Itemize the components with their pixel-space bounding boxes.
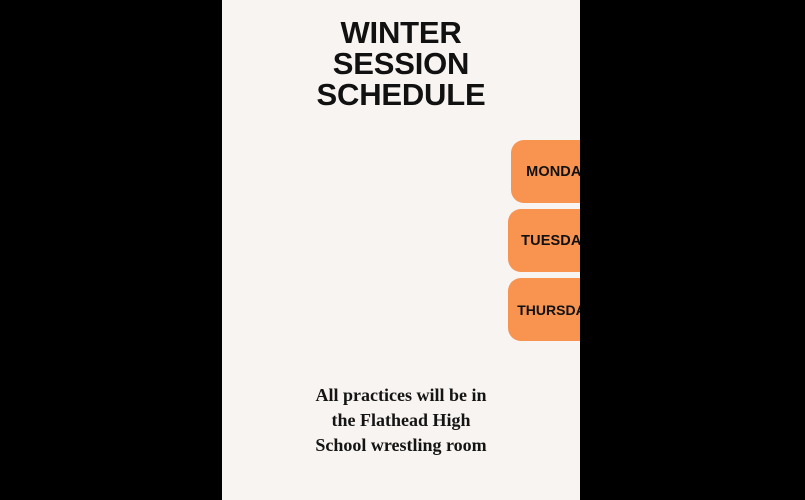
location-note-line-2: the Flathead High: [246, 408, 556, 433]
schedule-day-card-monday: MONDAY: [511, 140, 580, 203]
page-title-line-3: SCHEDULE: [222, 79, 580, 110]
location-note-line-1: All practices will be in: [246, 383, 556, 408]
schedule-row: THURSDAY 6-7:30 pm: [508, 278, 580, 341]
winter-session-poster: WINTER SESSION SCHEDULE MONDAY 6-7:30 pm…: [222, 0, 580, 500]
schedule-day-label: MONDAY: [526, 164, 580, 180]
page-title-line-2: SESSION: [222, 48, 580, 79]
schedule-row: MONDAY 6-7:30 pm: [511, 140, 580, 203]
location-note-line-3: School wrestling room: [246, 433, 556, 458]
schedule-day-label: THURSDAY: [517, 302, 580, 318]
poster-stage: WINTER SESSION SCHEDULE MONDAY 6-7:30 pm…: [0, 0, 805, 500]
letterbox-bar-right: [580, 0, 805, 500]
letterbox-bar-left: [0, 0, 222, 500]
schedule-row: TUESDAY 6-7:30 pm: [508, 209, 580, 272]
location-note: All practices will be in the Flathead Hi…: [246, 383, 556, 458]
page-title: WINTER SESSION SCHEDULE: [222, 17, 580, 110]
schedule-day-card-thursday: THURSDAY: [508, 278, 580, 341]
page-title-line-1: WINTER: [222, 17, 580, 48]
schedule-day-label: TUESDAY: [521, 233, 580, 249]
schedule-day-card-tuesday: TUESDAY: [508, 209, 580, 272]
